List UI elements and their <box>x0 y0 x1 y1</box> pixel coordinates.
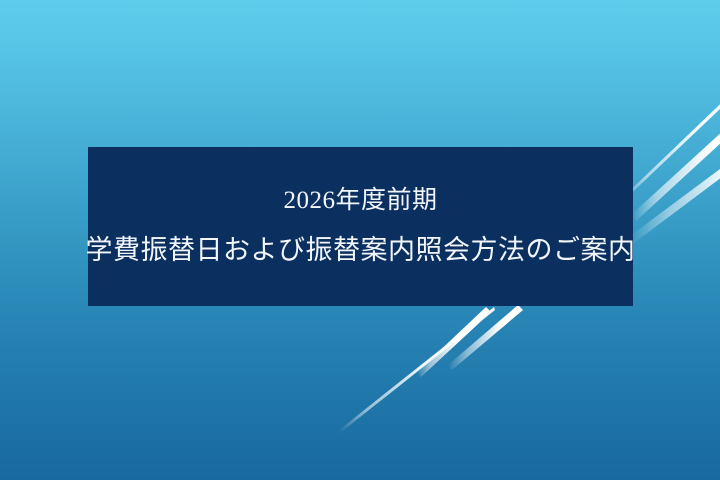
page-title-line-1: 2026年度前期 <box>283 187 437 215</box>
accent-line-tr-3 <box>630 128 720 243</box>
accent-line-bc-1 <box>339 307 495 433</box>
accent-line-tr-1 <box>620 66 720 203</box>
page-title-line-2: 学費振替日および振替案内照会方法のご案内 <box>86 236 636 266</box>
title-text-box: 2026年度前期 学費振替日および振替案内照会方法のご案内 <box>88 147 633 306</box>
title-slide: 2026年度前期 学費振替日および振替案内照会方法のご案内 <box>0 0 720 480</box>
accent-line-bc-2 <box>417 307 491 377</box>
accent-line-group-bottom-center <box>339 305 523 433</box>
accent-line-group-top-right <box>620 66 720 243</box>
accent-line-bc-3 <box>448 305 523 370</box>
accent-line-tr-2 <box>632 88 720 221</box>
